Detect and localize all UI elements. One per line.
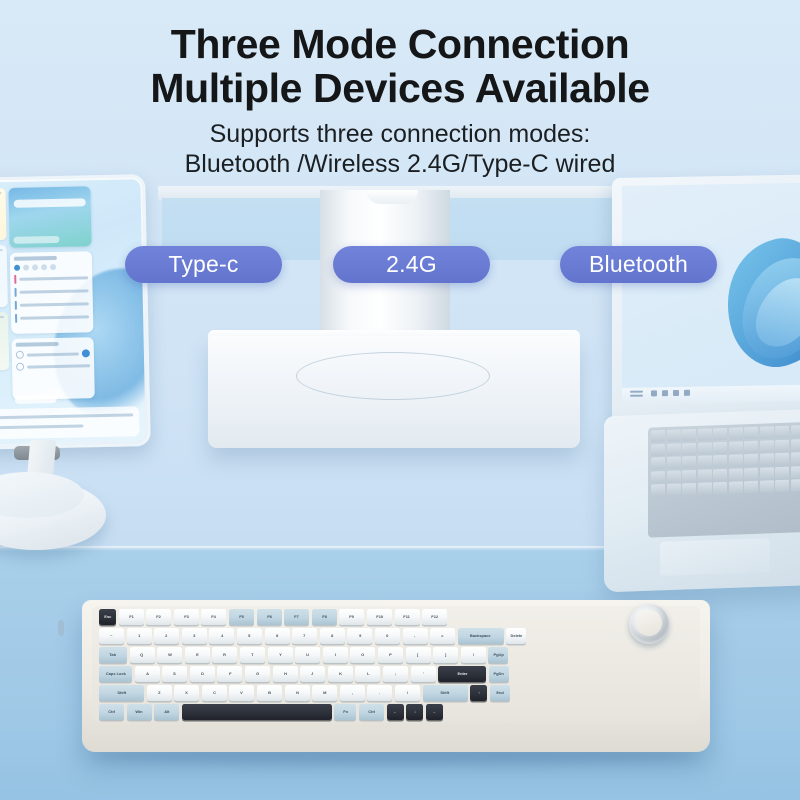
key-legend: Shift: [117, 691, 126, 695]
keyboard-row-home[interactable]: Caps LockASDFGHJKL;'EnterPgDn: [99, 666, 509, 682]
key-legend: ~: [110, 634, 112, 638]
key-legend: F4: [212, 615, 217, 619]
key-8[interactable]: 8: [320, 628, 345, 644]
monitor-base-ring: [296, 352, 490, 400]
key-ctrl[interactable]: Ctrl: [359, 704, 384, 720]
laptop-screen: [622, 182, 800, 402]
key-t[interactable]: T: [240, 647, 265, 663]
widget-calendar-card: [10, 251, 94, 334]
keyboard-row-number[interactable]: ~1234567890-=BackspaceDelete: [99, 628, 526, 644]
key-legend: Alt: [164, 710, 169, 714]
key-legend: 6: [276, 634, 278, 638]
key-legend: F6: [267, 615, 272, 619]
keyboard-row-bottom[interactable]: CtrlWinAltFnCtrl←↓→: [99, 704, 443, 720]
key-p[interactable]: P: [378, 647, 403, 663]
key-h[interactable]: H: [273, 666, 298, 682]
key-y[interactable]: Y: [268, 647, 293, 663]
key-f5[interactable]: F5: [229, 609, 254, 625]
key-s[interactable]: S: [162, 666, 187, 682]
key-legend: Tab: [110, 653, 117, 657]
key-legend: J: [312, 672, 314, 676]
monitor-stand-notch: [366, 190, 418, 204]
key-esc[interactable]: Esc: [99, 609, 116, 625]
key--[interactable]: →: [426, 704, 443, 720]
key-legend: =: [441, 634, 443, 638]
key-legend: /: [407, 691, 408, 695]
key-legend: Y: [279, 653, 282, 657]
key-legend: 7: [304, 634, 306, 638]
key-legend: ↑: [478, 691, 480, 695]
key-b[interactable]: B: [257, 685, 282, 701]
headline-line-2: Multiple Devices Available: [0, 66, 800, 110]
key-4[interactable]: 4: [209, 628, 234, 644]
key-legend: D: [201, 672, 204, 676]
keyboard-keys-plate[interactable]: EscF1F2F3F4F5F6F7F8F9F10F11F12 ~12345678…: [99, 609, 683, 719]
key-legend: 9: [359, 634, 361, 638]
headline-line-1: Three Mode Connection: [0, 22, 800, 66]
key--[interactable]: ;: [383, 666, 408, 682]
key-legend: I: [335, 653, 336, 657]
key-6[interactable]: 6: [265, 628, 290, 644]
key-legend: Win: [135, 710, 142, 714]
key-legend: \: [473, 653, 474, 657]
pill-24g[interactable]: 2.4G: [333, 246, 490, 283]
key-legend: →: [432, 710, 436, 714]
key-shift[interactable]: Shift: [99, 685, 144, 701]
key-legend: F11: [404, 615, 411, 619]
key--[interactable]: \: [461, 647, 486, 663]
key--[interactable]: ↑: [470, 685, 487, 701]
key-backspace[interactable]: Backspace: [458, 628, 504, 644]
key-pgup[interactable]: PgUp: [488, 647, 508, 663]
tablet-widgets-left-column: [0, 188, 9, 371]
key-legend: X: [185, 691, 188, 695]
key-x[interactable]: X: [174, 685, 199, 701]
key-legend: ←: [393, 710, 397, 714]
key-f1[interactable]: F1: [119, 609, 144, 625]
key-legend: ↓: [414, 710, 416, 714]
key-legend: F9: [350, 615, 355, 619]
key-legend: PgDn: [494, 672, 504, 676]
keyboard-row-shift[interactable]: ShiftZXCVBNM,./Shift↑End: [99, 685, 510, 701]
keyboard-row-qwerty[interactable]: TabQWERTYUIOP[]\PgUp: [99, 647, 508, 663]
key-legend: T: [251, 653, 253, 657]
key-j[interactable]: J: [300, 666, 325, 682]
key-legend: Delete: [510, 634, 522, 638]
page-subtitle: Supports three connection modes: Bluetoo…: [0, 119, 800, 179]
volume-knob[interactable]: [629, 604, 669, 644]
key-w[interactable]: W: [157, 647, 182, 663]
product-banner: Three Mode Connection Multiple Devices A…: [0, 0, 800, 800]
key-7[interactable]: 7: [292, 628, 317, 644]
key-3[interactable]: 3: [182, 628, 207, 644]
key-legend: Fn: [343, 710, 348, 714]
key-legend: F7: [294, 615, 299, 619]
widget-card: [0, 312, 9, 371]
key-legend: Z: [158, 691, 160, 695]
key-legend: 4: [221, 634, 223, 638]
key--[interactable]: ~: [99, 628, 124, 644]
widget-hero-card: [8, 186, 91, 248]
key-legend: Q: [141, 653, 144, 657]
key-ctrl[interactable]: Ctrl: [99, 704, 124, 720]
key-legend: 0: [386, 634, 388, 638]
subtitle-line-2: Bluetooth /Wireless 2.4G/Type-C wired: [0, 149, 800, 179]
key-legend: 5: [248, 634, 250, 638]
key-legend: Esc: [104, 615, 111, 619]
key-0[interactable]: 0: [375, 628, 400, 644]
key-legend: Enter: [457, 672, 467, 676]
laptop-taskbar: [622, 384, 800, 404]
key-fn[interactable]: Fn: [334, 704, 356, 720]
key-2[interactable]: 2: [154, 628, 179, 644]
key--[interactable]: =: [430, 628, 455, 644]
key-f7[interactable]: F7: [284, 609, 309, 625]
key-legend: End: [496, 691, 503, 695]
key-end[interactable]: End: [490, 685, 510, 701]
tablet-device: [0, 174, 151, 450]
widget-card: [0, 245, 8, 308]
key-f4[interactable]: F4: [201, 609, 226, 625]
key-legend: H: [284, 672, 287, 676]
key-win[interactable]: Win: [127, 704, 152, 720]
key-legend: F10: [376, 615, 383, 619]
key-f11[interactable]: F11: [395, 609, 420, 625]
keyboard-side-badge: [58, 620, 64, 636]
key-legend: K: [339, 672, 342, 676]
key-f[interactable]: F: [217, 666, 242, 682]
key-space[interactable]: [182, 704, 332, 720]
system-tray[interactable]: [630, 390, 690, 397]
key--[interactable]: ': [411, 666, 436, 682]
key-legend: Shift: [441, 691, 450, 695]
key-f12[interactable]: F12: [422, 609, 447, 625]
key-tab[interactable]: Tab: [99, 647, 127, 663]
laptop-keyboard[interactable]: [648, 420, 800, 537]
key--[interactable]: ←: [387, 704, 404, 720]
key-legend: F3: [184, 615, 189, 619]
key-legend: PgUp: [493, 653, 503, 657]
key-legend: ,: [352, 691, 353, 695]
key-f8[interactable]: F8: [312, 609, 337, 625]
key-r[interactable]: R: [212, 647, 237, 663]
key-legend: 2: [166, 634, 168, 638]
key-legend: P: [389, 653, 392, 657]
key-e[interactable]: E: [185, 647, 210, 663]
key-legend: F: [229, 672, 231, 676]
key-legend: U: [306, 653, 309, 657]
key-legend: [: [417, 653, 418, 657]
key-5[interactable]: 5: [237, 628, 262, 644]
key-legend: R: [223, 653, 226, 657]
key-legend: E: [196, 653, 199, 657]
key-alt[interactable]: Alt: [154, 704, 179, 720]
key-legend: Backspace: [470, 634, 491, 638]
key-legend: O: [361, 653, 364, 657]
clock-icon: [630, 391, 643, 397]
key-v[interactable]: V: [229, 685, 254, 701]
key-a[interactable]: A: [135, 666, 160, 682]
widget-todo-card: [12, 337, 95, 400]
add-widgets-button[interactable]: [15, 395, 57, 404]
chevron-up-icon[interactable]: [684, 390, 690, 396]
key--[interactable]: ,: [340, 685, 365, 701]
key-legend: 1: [138, 634, 140, 638]
key-legend: C: [213, 691, 216, 695]
key-legend: F1: [129, 615, 134, 619]
laptop-trackpad[interactable]: [660, 538, 770, 576]
key-legend: Ctrl: [108, 710, 115, 714]
key-legend: F8: [322, 615, 327, 619]
key-d[interactable]: D: [190, 666, 215, 682]
key-z[interactable]: Z: [147, 685, 172, 701]
key-q[interactable]: Q: [130, 647, 155, 663]
key-i[interactable]: I: [323, 647, 348, 663]
key-legend: M: [323, 691, 326, 695]
tablet-widgets-main-column: [8, 186, 94, 400]
key-f10[interactable]: F10: [367, 609, 392, 625]
key-legend: V: [241, 691, 244, 695]
key-k[interactable]: K: [328, 666, 353, 682]
tablet-screen: [0, 179, 146, 445]
key-legend: ': [423, 672, 424, 676]
key-legend: ]: [445, 653, 446, 657]
page-title: Three Mode Connection Multiple Devices A…: [0, 22, 800, 110]
key-f6[interactable]: F6: [257, 609, 282, 625]
key-enter[interactable]: Enter: [438, 666, 486, 682]
key-f2[interactable]: F2: [146, 609, 171, 625]
key-l[interactable]: L: [355, 666, 380, 682]
key-f9[interactable]: F9: [339, 609, 364, 625]
key-n[interactable]: N: [285, 685, 310, 701]
key-caps-lock[interactable]: Caps Lock: [99, 666, 132, 682]
key-m[interactable]: M: [312, 685, 337, 701]
key-f3[interactable]: F3: [174, 609, 199, 625]
key-legend: Ctrl: [368, 710, 375, 714]
key-legend: S: [173, 672, 176, 676]
key-legend: A: [146, 672, 149, 676]
key-9[interactable]: 9: [347, 628, 372, 644]
key-legend: W: [168, 653, 172, 657]
pill-type-c[interactable]: Type-c: [125, 246, 282, 283]
key-legend: F12: [431, 615, 438, 619]
key-legend: -: [414, 634, 415, 638]
widget-card: [0, 188, 6, 241]
key-legend: B: [268, 691, 271, 695]
key-g[interactable]: G: [245, 666, 270, 682]
wifi-icon[interactable]: [673, 390, 679, 396]
key-legend: F2: [156, 615, 161, 619]
windows-bloom-wallpaper-icon: [708, 234, 800, 387]
key--[interactable]: -: [403, 628, 428, 644]
key-c[interactable]: C: [202, 685, 227, 701]
key-legend: F5: [239, 615, 244, 619]
key-delete[interactable]: Delete: [506, 628, 526, 644]
key--[interactable]: [: [406, 647, 431, 663]
subtitle-line-1: Supports three connection modes:: [0, 119, 800, 149]
key-legend: L: [367, 672, 369, 676]
key--[interactable]: .: [367, 685, 392, 701]
key-u[interactable]: U: [295, 647, 320, 663]
pill-bluetooth[interactable]: Bluetooth: [560, 246, 717, 283]
key-1[interactable]: 1: [127, 628, 152, 644]
battery-icon[interactable]: [651, 390, 657, 396]
key-o[interactable]: O: [350, 647, 375, 663]
key-legend: .: [379, 691, 380, 695]
key-legend: ;: [395, 672, 396, 676]
key-pgdn[interactable]: PgDn: [489, 666, 509, 682]
key-legend: G: [256, 672, 259, 676]
key--[interactable]: /: [395, 685, 420, 701]
key--[interactable]: ↓: [406, 704, 423, 720]
news-card: [0, 406, 140, 439]
keyboard-row-function[interactable]: EscF1F2F3F4F5F6F7F8F9F10F11F12: [99, 609, 447, 625]
settings-gear-icon[interactable]: [662, 390, 668, 396]
key--[interactable]: ]: [433, 647, 458, 663]
key-legend: Caps Lock: [105, 672, 125, 676]
key-legend: 3: [193, 634, 195, 638]
key-shift[interactable]: Shift: [423, 685, 468, 701]
key-legend: 8: [331, 634, 333, 638]
key-legend: N: [296, 691, 299, 695]
